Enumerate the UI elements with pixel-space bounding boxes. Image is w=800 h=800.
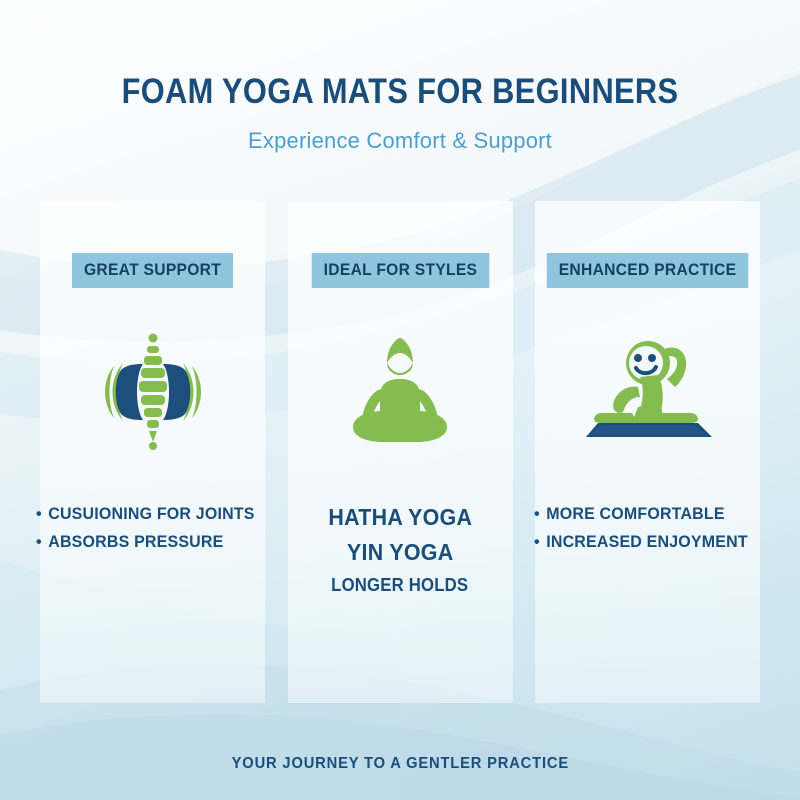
card-badge: IDEAL FOR STYLES [311, 253, 489, 288]
list-item: CUSUIONING FOR JOINTS [36, 500, 255, 528]
card-body: HATHA YOGA YIN YOGA LONGER HOLDS [288, 500, 513, 600]
card-great-support: GREAT SUPPORT [40, 201, 265, 703]
list-item: YIN YOGA [347, 535, 453, 570]
cobra-pose-on-mat-icon [572, 325, 724, 451]
list-item: HATHA YOGA [328, 500, 472, 535]
feature-cards: GREAT SUPPORT [40, 201, 760, 703]
lotus-meditation-icon [335, 327, 465, 449]
poster-header: FOAM YOGA MATS FOR BEGINNERS Experience … [0, 0, 800, 154]
card-badge: ENHANCED PRACTICE [547, 253, 749, 288]
card-icon-wrap [572, 318, 724, 458]
style-list: HATHA YOGA YIN YOGA LONGER HOLDS [323, 500, 478, 600]
footer-tagline: YOUR JOURNEY TO A GENTLER PRACTICE [231, 755, 568, 773]
poster-footer: YOUR JOURNEY TO A GENTLER PRACTICE [0, 755, 800, 773]
benefit-list: MORE COMFORTABLE INCREASED ENJOYMENT [534, 500, 761, 555]
card-icon-wrap [95, 318, 211, 458]
list-item: LONGER HOLDS [331, 571, 468, 600]
infographic-poster: FOAM YOGA MATS FOR BEGINNERS Experience … [0, 0, 800, 800]
card-badge: GREAT SUPPORT [72, 253, 233, 288]
card-body: MORE COMFORTABLE INCREASED ENJOYMENT [535, 500, 760, 555]
card-body: CUSUIONING FOR JOINTS ABSORBS PRESSURE [40, 500, 265, 555]
spine-cushion-icon [95, 325, 211, 451]
benefit-list: CUSUIONING FOR JOINTS ABSORBS PRESSURE [36, 500, 269, 555]
card-ideal-for-styles: IDEAL FOR STYLES [288, 201, 513, 703]
page-subtitle: Experience Comfort & Support [0, 112, 800, 154]
list-item: MORE COMFORTABLE [534, 500, 748, 528]
list-item: INCREASED ENJOYMENT [534, 528, 748, 556]
card-icon-wrap [335, 318, 465, 458]
page-title: FOAM YOGA MATS FOR BEGINNERS [48, 0, 752, 112]
list-item: ABSORBS PRESSURE [36, 528, 255, 556]
card-enhanced-practice: ENHANCED PRACTICE [535, 201, 760, 703]
